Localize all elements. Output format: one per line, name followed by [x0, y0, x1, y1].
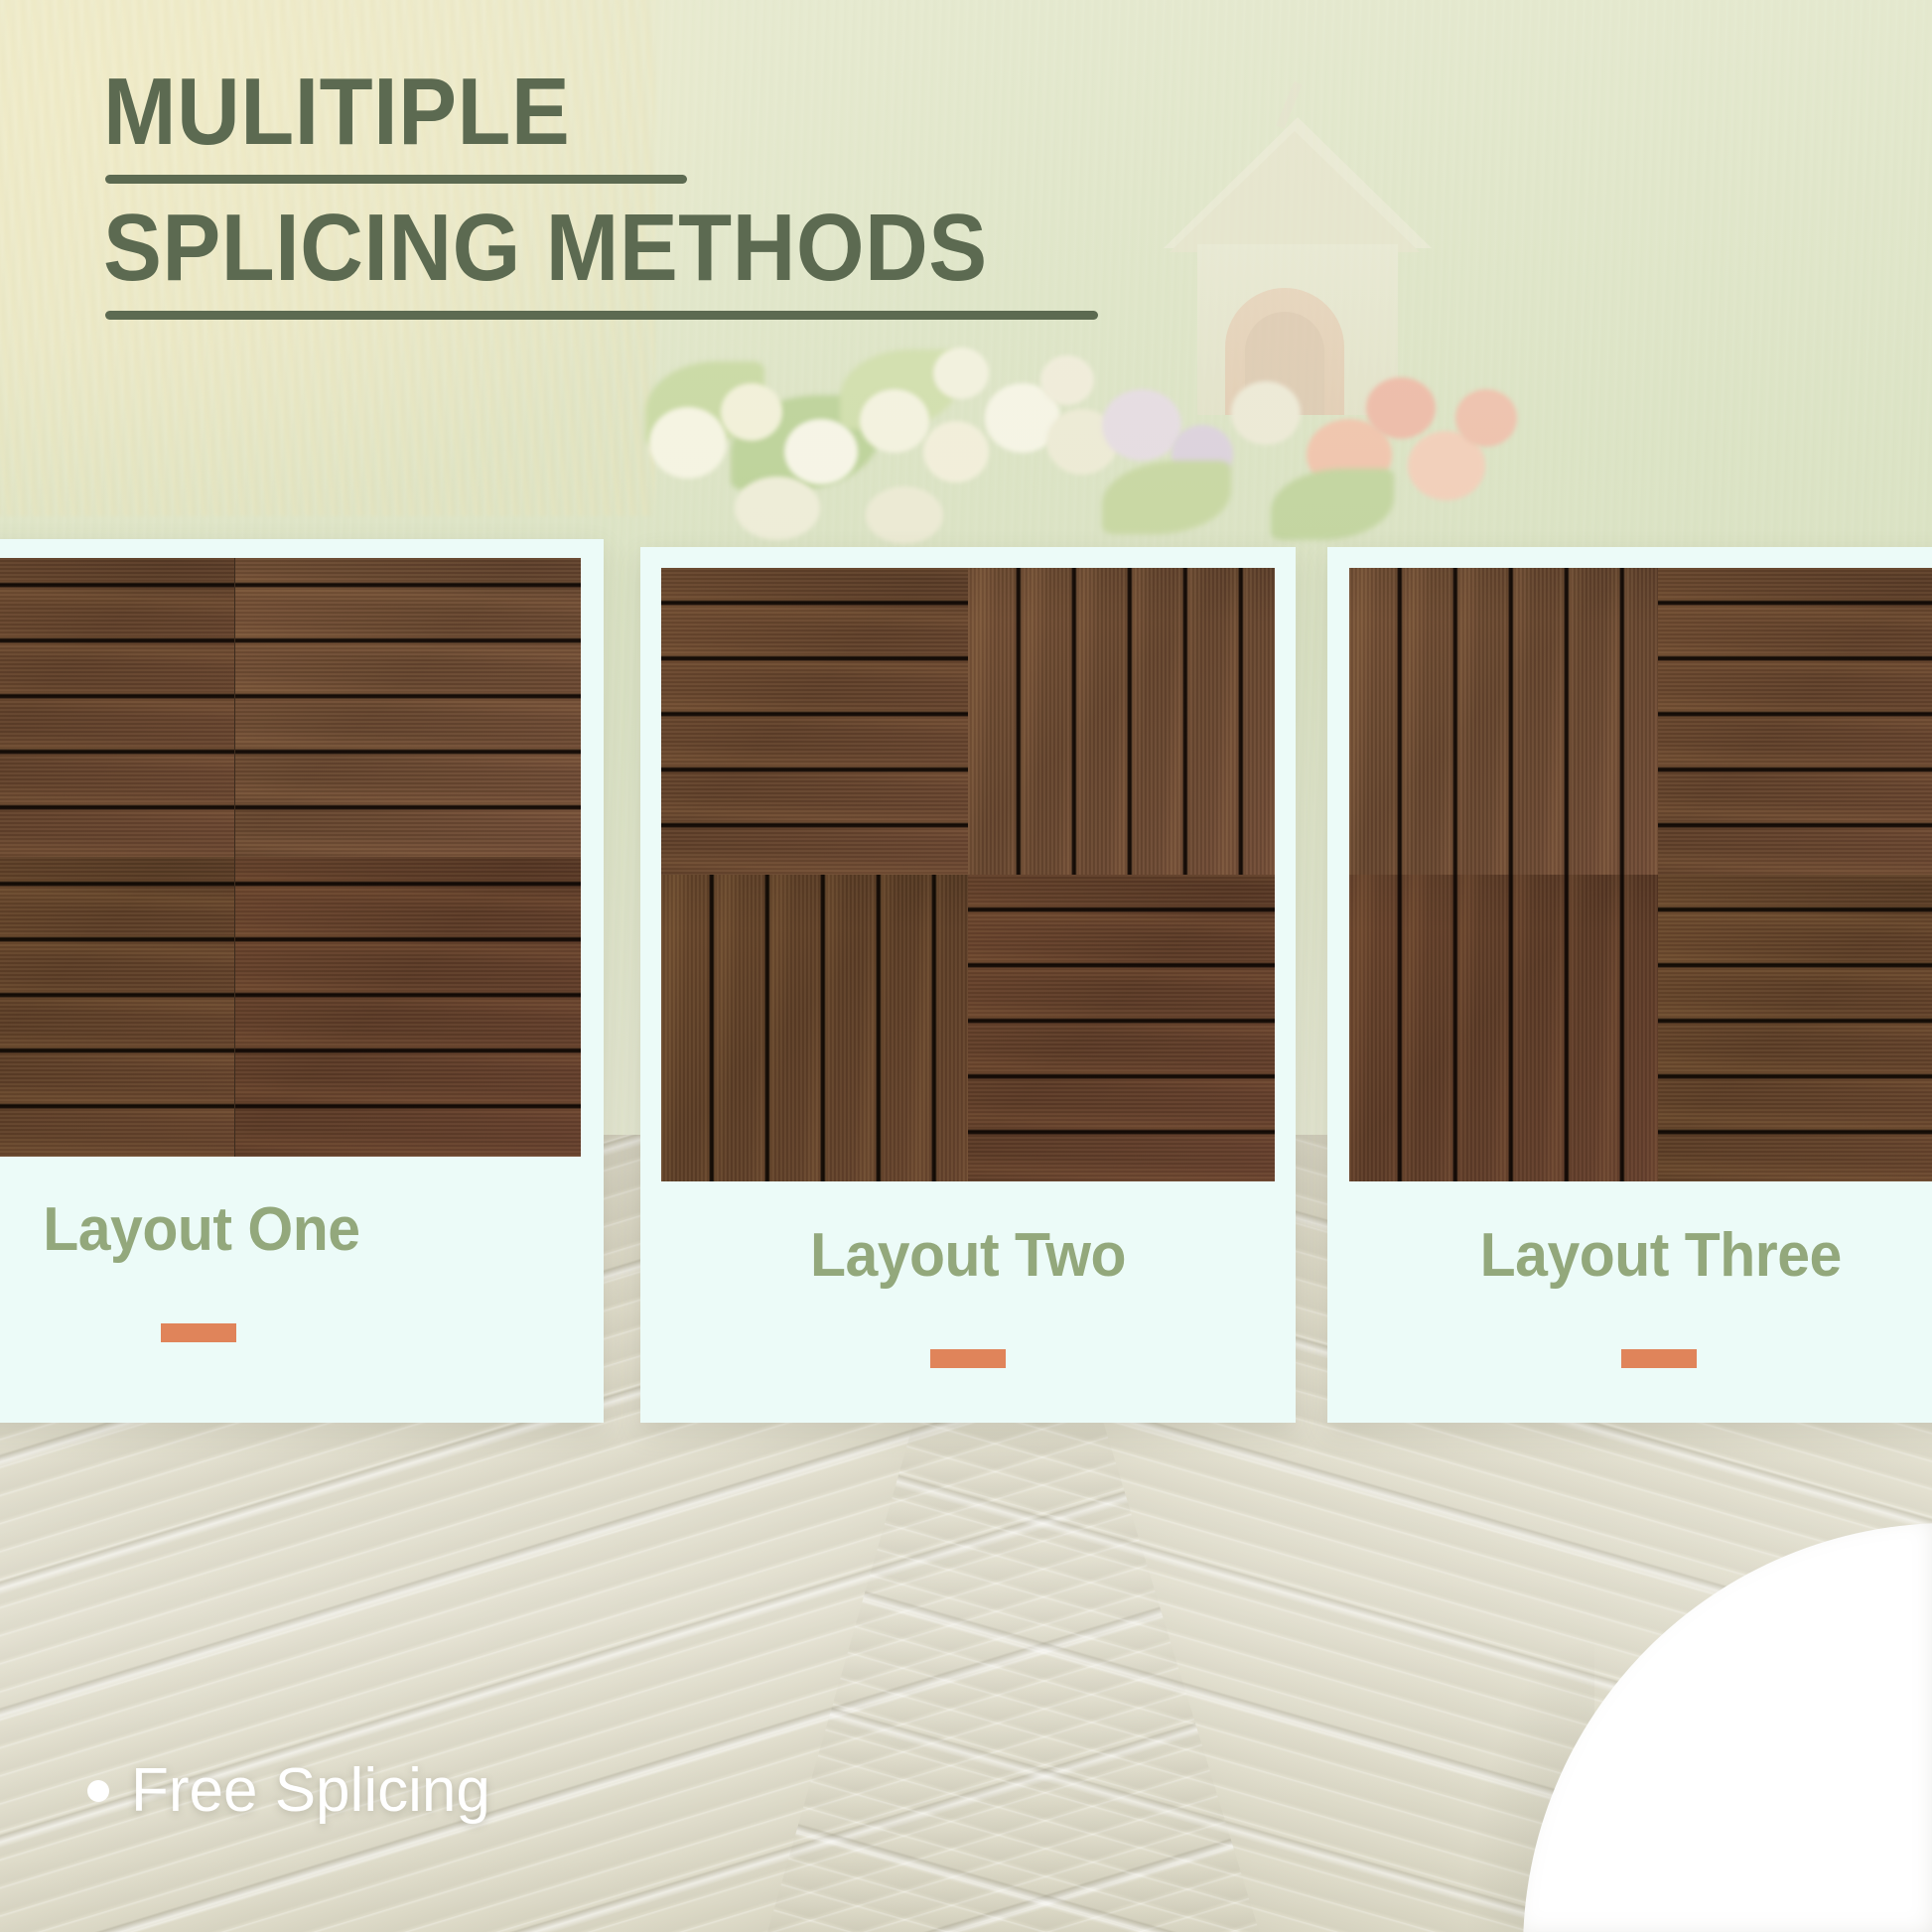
layout-card-three[interactable]: Layout Three — [1327, 547, 1932, 1423]
layout-card-one-label: Layout One — [0, 1194, 586, 1265]
layout-card-list: Layout One Layout Two Layout Three — [0, 0, 1932, 1932]
layout-card-three-label: Layout Three — [1345, 1220, 1932, 1291]
layout-card-two-accent-bar — [930, 1349, 1006, 1368]
layout-card-one[interactable]: Layout One — [0, 539, 604, 1423]
bullet-dot-icon — [87, 1780, 109, 1802]
tile-preview-three — [1349, 568, 1932, 1181]
layout-card-two-label: Layout Two — [657, 1220, 1280, 1291]
tile-preview-two — [661, 568, 1275, 1181]
feature-bullet-row: Free Splicing — [87, 1755, 490, 1826]
tile-preview-one — [0, 558, 581, 1157]
promo-banner: MULITIPLE SPLICING METHODS Layout One — [0, 0, 1932, 1932]
layout-card-one-accent-bar — [161, 1323, 236, 1342]
layout-card-three-accent-bar — [1621, 1349, 1697, 1368]
layout-card-two[interactable]: Layout Two — [640, 547, 1296, 1423]
feature-bullet-text: Free Splicing — [131, 1755, 490, 1826]
